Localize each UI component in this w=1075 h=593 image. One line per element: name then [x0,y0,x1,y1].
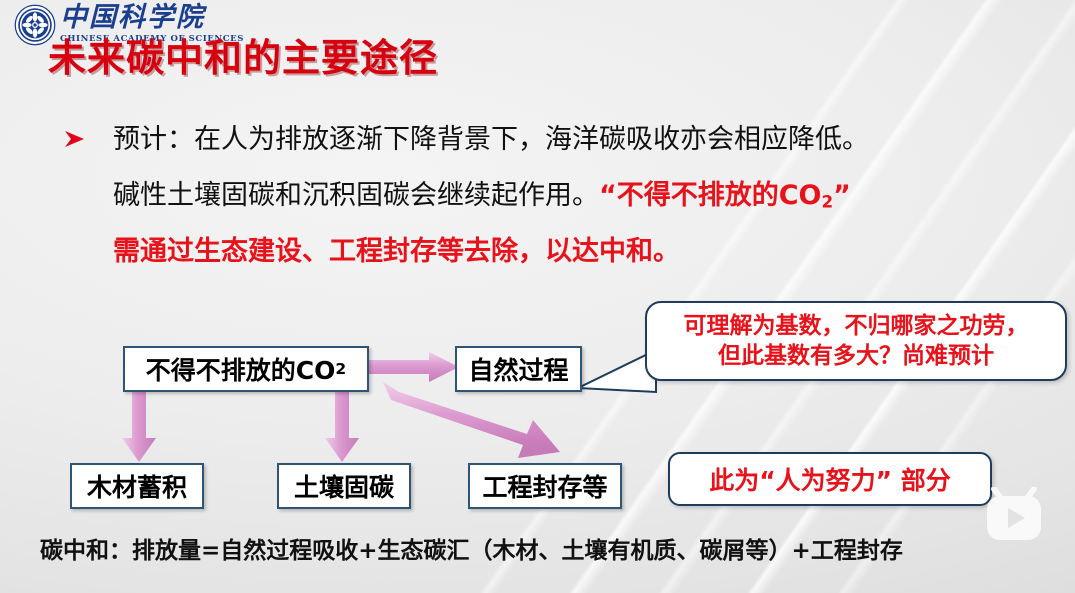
body-line-2-emphasis: “不得不排放的CO2” [599,180,851,211]
red-arrow-bullet-icon [64,129,86,149]
footer-equation: 碳中和：排放量=自然过程吸收+生态碳汇（木材、土壤有机质、碳屑等）+工程封存 [40,537,903,565]
callout-human-effort: 此为“人为努力” 部分 [668,452,992,506]
emphasis-suffix: ” [833,180,851,211]
emphasis-prefix: “不得不排放的CO [599,180,822,211]
diagram-box-natural-process: 自然过程 [455,346,582,392]
emphasis-subscript: 2 [822,192,834,212]
arrow-co2-to-natural [367,352,459,382]
arrow-co2-to-wood [122,388,156,464]
diagram-box-engineering-storage: 工程封存等 [468,463,622,509]
diagram-box-co2: 不得不排放的CO2 [123,346,369,392]
logo-chinese-name: 中国科学院 [60,3,205,33]
arrow-co2-to-soil [325,388,359,464]
slide-canvas: 中国科学院 CHINESE ACADEMY OF SCIENCES 未来碳中和的… [0,0,1075,593]
body-line-3: 需通过生态建设、工程封存等去除，以达中和。 [113,236,680,268]
page-title: 未来碳中和的主要途径 [48,36,438,80]
callout-baseline-line-1: 可理解为基数，不归哪家之功劳， [684,311,1029,341]
video-play-icon[interactable] [983,487,1045,545]
body-line-2: 碱性土壤固碳和沉积固碳会继续起作用。“不得不排放的CO2” [113,180,851,218]
diagram-box-soil-carbon: 土壤固碳 [277,463,411,509]
diagram-box-co2-subscript: 2 [335,360,346,378]
body-line-2-plain: 碱性土壤固碳和沉积固碳会继续起作用。 [113,180,599,211]
callout-baseline-line-2: 但此基数有多大？尚难预计 [718,341,994,371]
arrow-co2-to-ccs [355,382,567,466]
diagram-box-wood-stock: 木材蓄积 [70,463,204,509]
body-line-1: 预计：在人为排放逐渐下降背景下，海洋碳吸收亦会相应降低。 [113,124,869,156]
callout-baseline-note: 可理解为基数，不归哪家之功劳， 但此基数有多大？尚难预计 [645,301,1067,381]
diagram-box-co2-label: 不得不排放的CO [146,351,336,387]
